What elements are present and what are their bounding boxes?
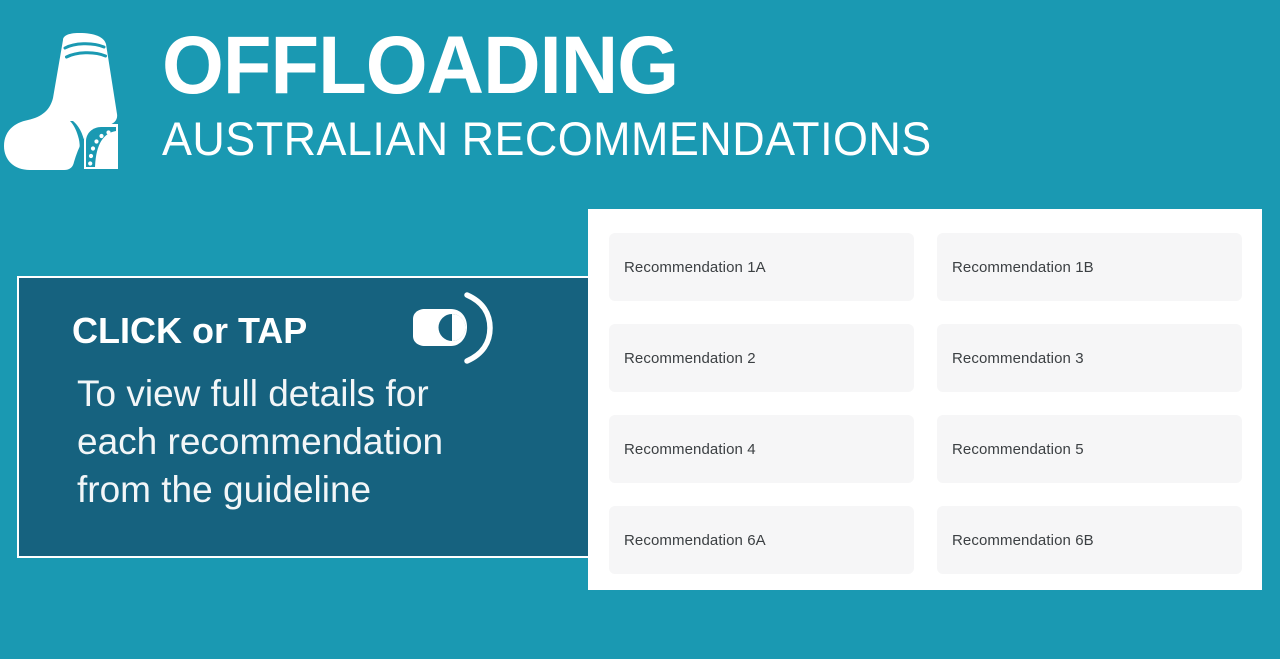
recommendation-card-1a[interactable]: Recommendation 1A (609, 233, 914, 301)
page-subtitle: AUSTRALIAN RECOMMENDATIONS (162, 115, 932, 162)
tap-gesture-icon (407, 289, 493, 369)
cta-heading: CLICK or TAP (72, 310, 307, 352)
recommendation-card-5[interactable]: Recommendation 5 (937, 415, 1242, 483)
recommendation-card-label: Recommendation 1B (952, 260, 1094, 275)
recommendation-card-label: Recommendation 6A (624, 533, 766, 548)
recommendation-card-label: Recommendation 5 (952, 442, 1084, 457)
recommendation-card-label: Recommendation 6B (952, 533, 1094, 548)
recommendation-card-2[interactable]: Recommendation 2 (609, 324, 914, 392)
sock-boot-icon (0, 28, 140, 173)
recommendation-card-label: Recommendation 4 (624, 442, 756, 457)
slide-canvas: OFFLOADING AUSTRALIAN RECOMMENDATIONS CL… (0, 0, 1280, 659)
cta-body-line: each recommendation (77, 418, 593, 466)
cta-body-text: To view full details for each recommenda… (19, 370, 613, 514)
cta-body-line: To view full details for (77, 370, 593, 418)
recommendations-grid: Recommendation 1A Recommendation 1B Reco… (609, 233, 1242, 574)
header-banner: OFFLOADING AUSTRALIAN RECOMMENDATIONS (0, 0, 1280, 185)
recommendation-card-6b[interactable]: Recommendation 6B (937, 506, 1242, 574)
brand-wordmark: OFFLOADING AUSTRALIAN RECOMMENDATIONS (162, 27, 968, 161)
cta-heading-row: CLICK or TAP (19, 278, 613, 356)
cta-body-line: from the guideline (77, 466, 593, 514)
recommendation-card-6a[interactable]: Recommendation 6A (609, 506, 914, 574)
recommendation-card-4[interactable]: Recommendation 4 (609, 415, 914, 483)
page-title: OFFLOADING (162, 27, 944, 104)
recommendation-card-3[interactable]: Recommendation 3 (937, 324, 1242, 392)
recommendation-card-label: Recommendation 3 (952, 351, 1084, 366)
recommendation-card-label: Recommendation 1A (624, 260, 766, 275)
recommendations-panel: Recommendation 1A Recommendation 1B Reco… (588, 209, 1262, 590)
recommendation-card-label: Recommendation 2 (624, 351, 756, 366)
click-or-tap-panel: CLICK or TAP To view full details for ea… (17, 276, 615, 558)
recommendation-card-1b[interactable]: Recommendation 1B (937, 233, 1242, 301)
